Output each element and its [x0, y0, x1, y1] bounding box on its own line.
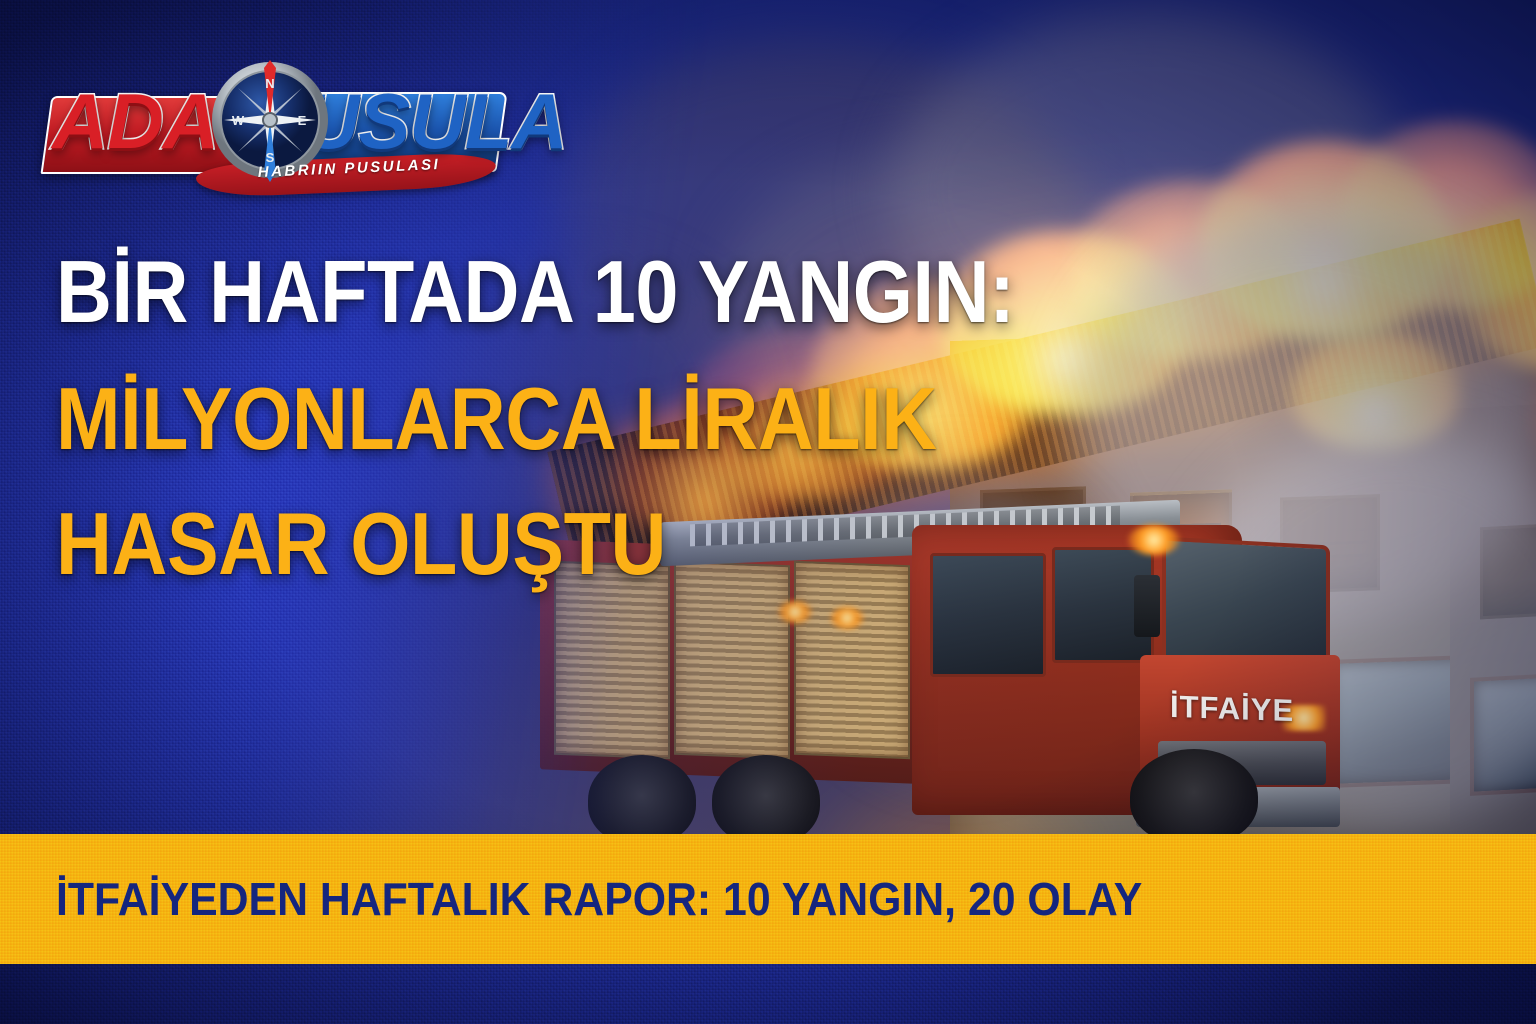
compass-west-label: W: [232, 113, 245, 128]
compass-north-label: N: [265, 76, 274, 91]
logo-word-ada: ADA: [52, 82, 218, 160]
site-logo[interactable]: ADA PUSULA: [46, 58, 496, 198]
headline-line-3: HASAR OLUŞTU: [56, 500, 666, 588]
headline-line-2: MİLYONLARCA LİRALIK: [56, 375, 937, 463]
banner-subtitle: İTFAİYEDEN HAFTALIK RAPOR: 10 YANGIN, 20…: [56, 872, 1142, 926]
compass-east-label: E: [298, 113, 307, 128]
news-poster: İTFAİYE ADA PUSULA: [0, 0, 1536, 1024]
headline-line-1: BİR HAFTADA 10 YANGIN:: [56, 248, 1014, 336]
bottom-banner: İTFAİYEDEN HAFTALIK RAPOR: 10 YANGIN, 20…: [0, 834, 1536, 964]
